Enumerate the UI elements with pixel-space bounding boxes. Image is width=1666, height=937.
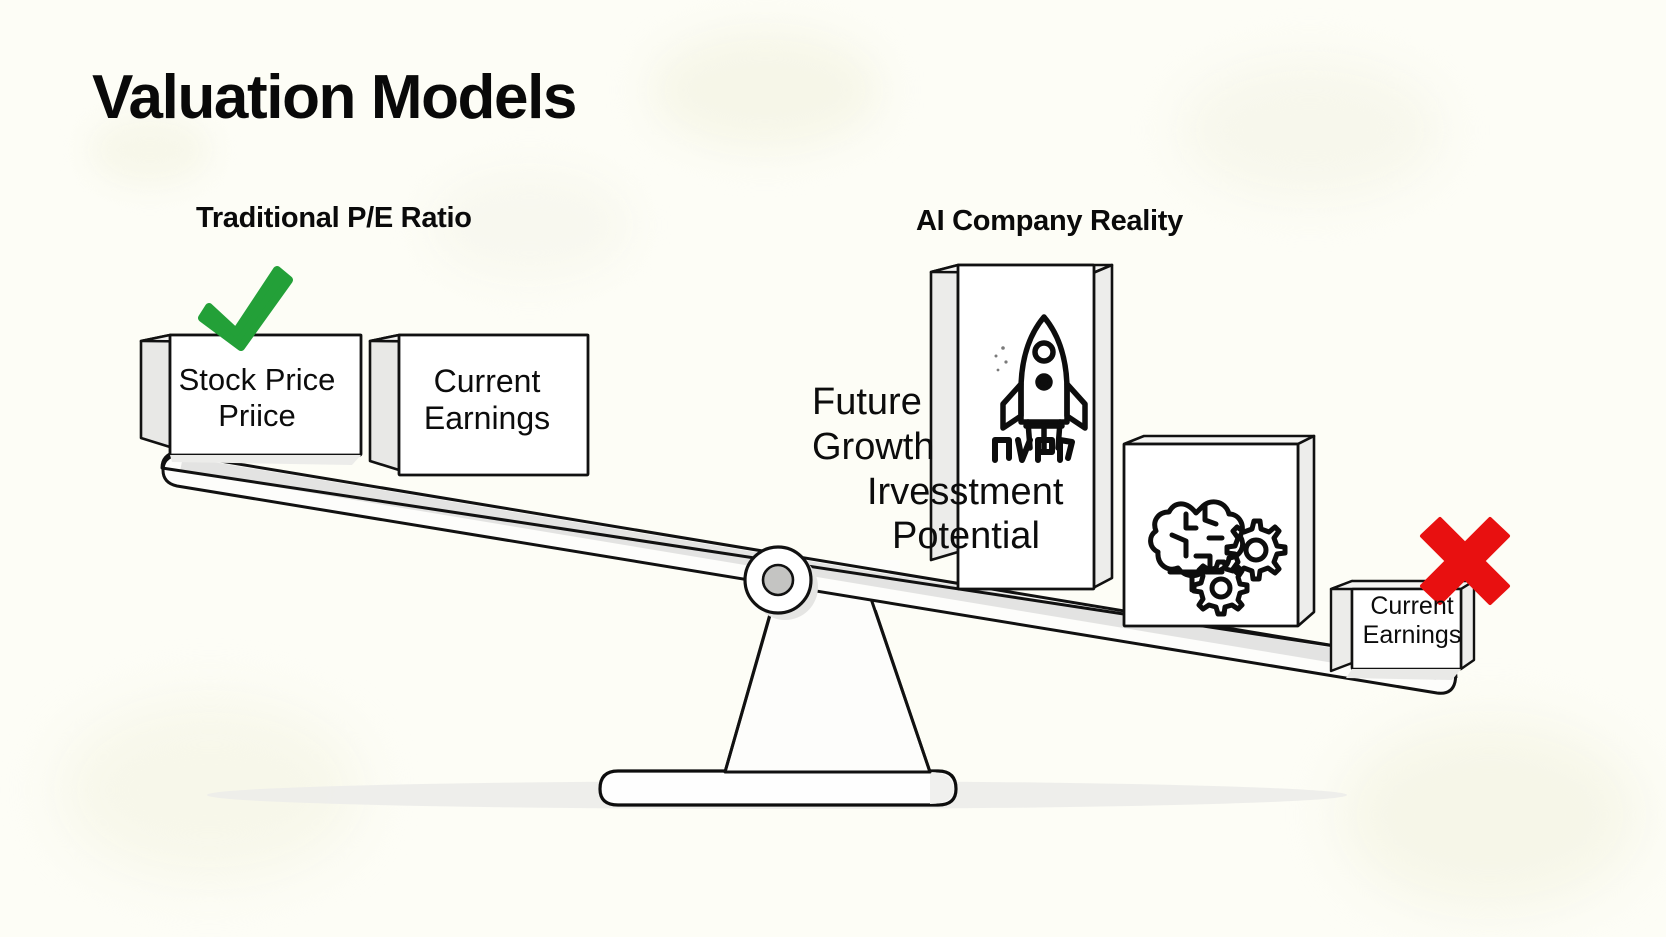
box-front-face — [170, 335, 361, 455]
box-rocket — [931, 265, 1112, 589]
box-right-face — [1461, 581, 1474, 669]
box-side-face — [1331, 581, 1352, 671]
illustration-canvas: Valuation Models Traditional P/E Ratio A… — [0, 0, 1666, 937]
seesaw-scene — [0, 0, 1666, 937]
box-brain-gears — [1124, 436, 1314, 626]
box-side-face — [370, 335, 399, 470]
box-right-face — [1093, 265, 1112, 588]
box-current-earnings-right — [1331, 581, 1474, 680]
box-right-face — [1298, 436, 1314, 626]
box-side-face — [141, 335, 170, 447]
pivot-inner-circle — [763, 565, 793, 595]
box-current-earnings-left — [370, 335, 588, 475]
box-stock-price — [141, 335, 361, 465]
box-front-face — [399, 335, 588, 475]
box-side-face — [931, 265, 958, 560]
support-base — [600, 771, 956, 805]
